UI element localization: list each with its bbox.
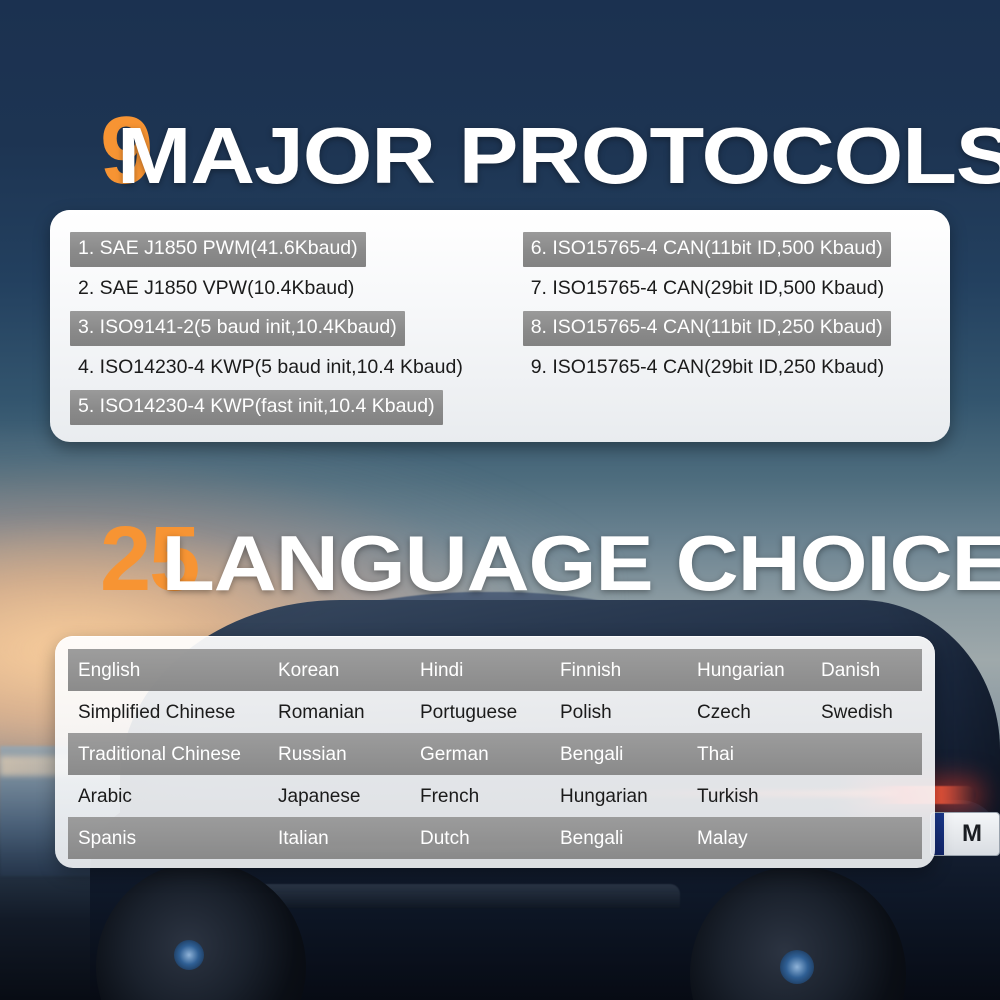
languages-panel: English Korean Hindi Finnish Hungarian D… bbox=[55, 636, 935, 868]
language-cell: Simplified Chinese bbox=[68, 703, 268, 722]
protocol-item: 6. ISO15765-4 CAN(11bit ID,500 Kbaud) bbox=[523, 232, 891, 267]
language-cell: Turkish bbox=[687, 787, 811, 806]
language-cell: Portuguese bbox=[410, 703, 550, 722]
protocols-panel: 1. SAE J1850 PWM(41.6Kbaud) 2. SAE J1850… bbox=[50, 210, 950, 442]
protocol-item: 3. ISO9141-2(5 baud init,10.4Kbaud) bbox=[70, 311, 405, 346]
language-cell: Czech bbox=[687, 703, 811, 722]
language-row: Traditional Chinese Russian German Benga… bbox=[68, 733, 922, 775]
language-cell: English bbox=[68, 661, 268, 680]
wheel-hub-badge-rear bbox=[780, 950, 814, 984]
language-cell: Romanian bbox=[268, 703, 410, 722]
language-row: Simplified Chinese Romanian Portuguese P… bbox=[68, 691, 922, 733]
protocols-left-column: 1. SAE J1850 PWM(41.6Kbaud) 2. SAE J1850… bbox=[70, 232, 509, 424]
infographic-stage: M 9 MAJOR PROTOCOLS 1. SAE J1850 PWM(41.… bbox=[0, 0, 1000, 1000]
languages-heading: 25 LANGUAGE CHOICES bbox=[100, 518, 1000, 601]
language-cell: Bengali bbox=[550, 829, 687, 848]
language-cell: Bengali bbox=[550, 745, 687, 764]
protocol-item: 5. ISO14230-4 KWP(fast init,10.4 Kbaud) bbox=[70, 390, 443, 425]
language-cell: Danish bbox=[811, 661, 921, 680]
protocol-item: 1. SAE J1850 PWM(41.6Kbaud) bbox=[70, 232, 366, 267]
language-cell: Italian bbox=[268, 829, 410, 848]
protocol-item: 9. ISO15765-4 CAN(29bit ID,250 Kbaud) bbox=[523, 351, 892, 386]
language-cell: Arabic bbox=[68, 787, 268, 806]
language-cell: Dutch bbox=[410, 829, 550, 848]
language-cell: Hindi bbox=[410, 661, 550, 680]
protocols-heading: 9 MAJOR PROTOCOLS bbox=[100, 108, 967, 194]
protocol-item: 8. ISO15765-4 CAN(11bit ID,250 Kbaud) bbox=[523, 311, 891, 346]
language-cell: Korean bbox=[268, 661, 410, 680]
protocol-item: 7. ISO15765-4 CAN(29bit ID,500 Kbaud) bbox=[523, 272, 892, 307]
language-cell: Finnish bbox=[550, 661, 687, 680]
language-cell: Traditional Chinese bbox=[68, 745, 268, 764]
protocols-heading-words: MAJOR PROTOCOLS bbox=[117, 120, 1000, 192]
languages-heading-words: LANGUAGE CHOICES bbox=[162, 528, 1000, 598]
protocol-item: 4. ISO14230-4 KWP(5 baud init,10.4 Kbaud… bbox=[70, 351, 471, 386]
language-cell: French bbox=[410, 787, 550, 806]
protocols-right-column: 6. ISO15765-4 CAN(11bit ID,500 Kbaud) 7.… bbox=[523, 232, 932, 424]
language-cell: Malay bbox=[687, 829, 811, 848]
license-plate: M bbox=[930, 812, 1000, 856]
language-cell: Swedish bbox=[811, 703, 921, 722]
protocol-item: 2. SAE J1850 VPW(10.4Kbaud) bbox=[70, 272, 362, 307]
wheel-hub-badge-front bbox=[174, 940, 204, 970]
language-row: English Korean Hindi Finnish Hungarian D… bbox=[68, 649, 922, 691]
language-cell: Russian bbox=[268, 745, 410, 764]
language-row: Spanis Italian Dutch Bengali Malay bbox=[68, 817, 922, 859]
language-cell: Thai bbox=[687, 745, 811, 764]
language-cell: Hungarian bbox=[687, 661, 811, 680]
language-cell: Polish bbox=[550, 703, 687, 722]
language-cell: German bbox=[410, 745, 550, 764]
language-cell: Hungarian bbox=[550, 787, 687, 806]
license-plate-text: M bbox=[944, 820, 999, 848]
language-row: Arabic Japanese French Hungarian Turkish bbox=[68, 775, 922, 817]
language-cell: Spanis bbox=[68, 829, 268, 848]
protocols-columns: 1. SAE J1850 PWM(41.6Kbaud) 2. SAE J1850… bbox=[50, 210, 950, 442]
language-cell: Japanese bbox=[268, 787, 410, 806]
